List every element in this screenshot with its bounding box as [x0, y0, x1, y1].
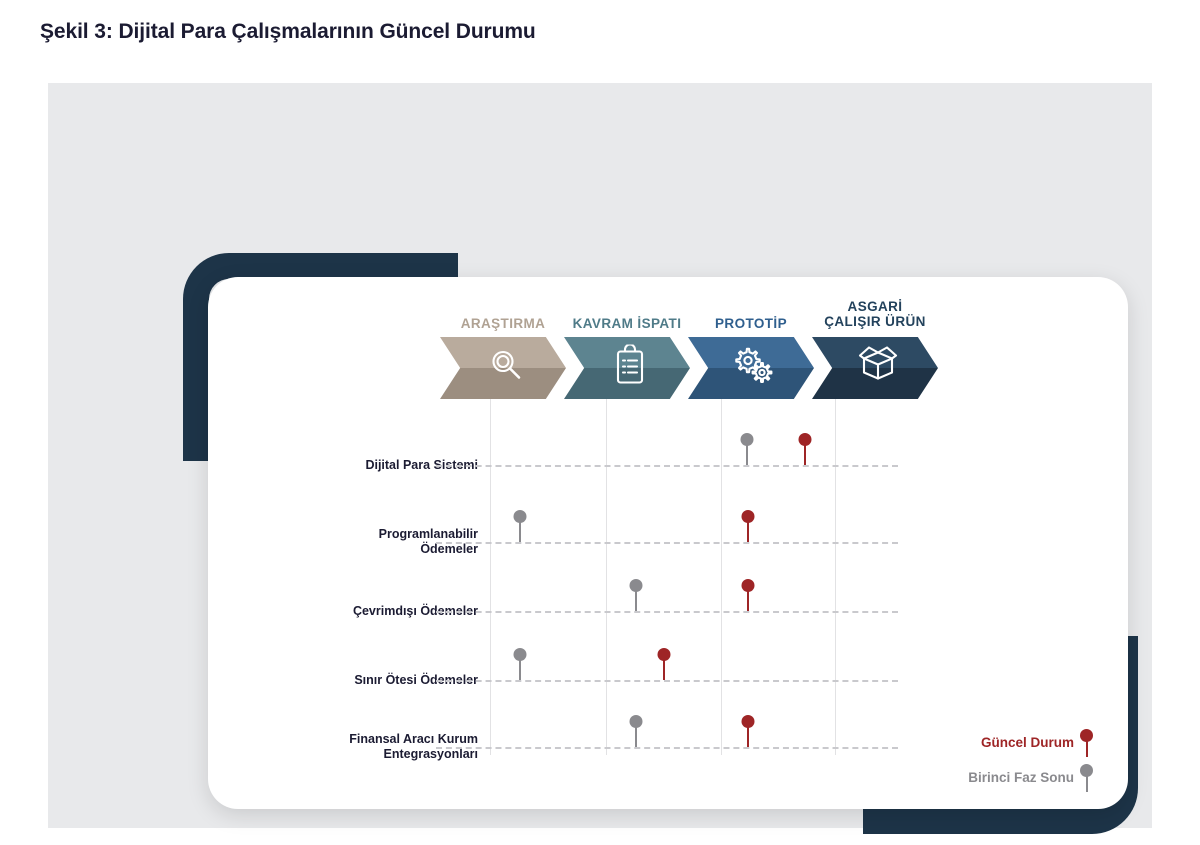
legend-label: Birinci Faz Sonu [968, 770, 1074, 785]
page-title: Şekil 3: Dijital Para Çalışmalarının Gün… [40, 20, 536, 44]
phase-one-end-pin [1080, 764, 1094, 792]
gears-icon [731, 345, 777, 392]
magnifier-icon [486, 346, 526, 391]
diagram-card: ARAŞTIRMA KAVRAM İSPATI PROTOTİP ASGARİÇ… [208, 277, 1128, 809]
figure-panel: ARAŞTIRMA KAVRAM İSPATI PROTOTİP ASGARİÇ… [48, 83, 1152, 828]
legend-label: Güncel Durum [981, 735, 1074, 750]
clipboard-icon [611, 345, 649, 392]
legend: Güncel Durum Birinci Faz Sonu [208, 277, 1128, 809]
current-status-pin [1080, 729, 1094, 757]
open-box-icon [855, 345, 901, 392]
